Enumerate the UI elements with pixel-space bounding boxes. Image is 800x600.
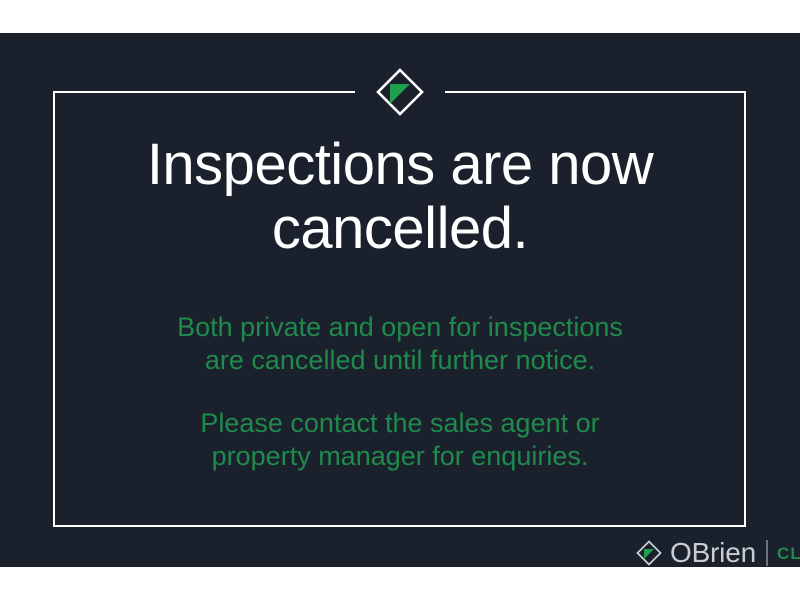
brand-name: OBrien [670,539,756,567]
notice-canvas: Inspections are now cancelled. Both priv… [0,33,800,567]
notice-paragraph-1: Both private and open for inspections ar… [80,311,720,377]
page-title: Inspections are now cancelled. [80,133,720,261]
notice-paragraph-2: Please contact the sales agent or proper… [80,407,720,473]
screen: Inspections are now cancelled. Both priv… [0,0,800,600]
brand-sub-name: CLARK [777,545,800,562]
diamond-emblem [375,67,425,117]
brand-divider [766,540,768,566]
diamond-outline-with-green-triangle-icon [378,70,422,114]
notice-body: Both private and open for inspections ar… [80,311,720,473]
brand-lockup: OBrien CLARK [636,536,800,567]
obrien-diamond-logo-icon [636,540,662,566]
